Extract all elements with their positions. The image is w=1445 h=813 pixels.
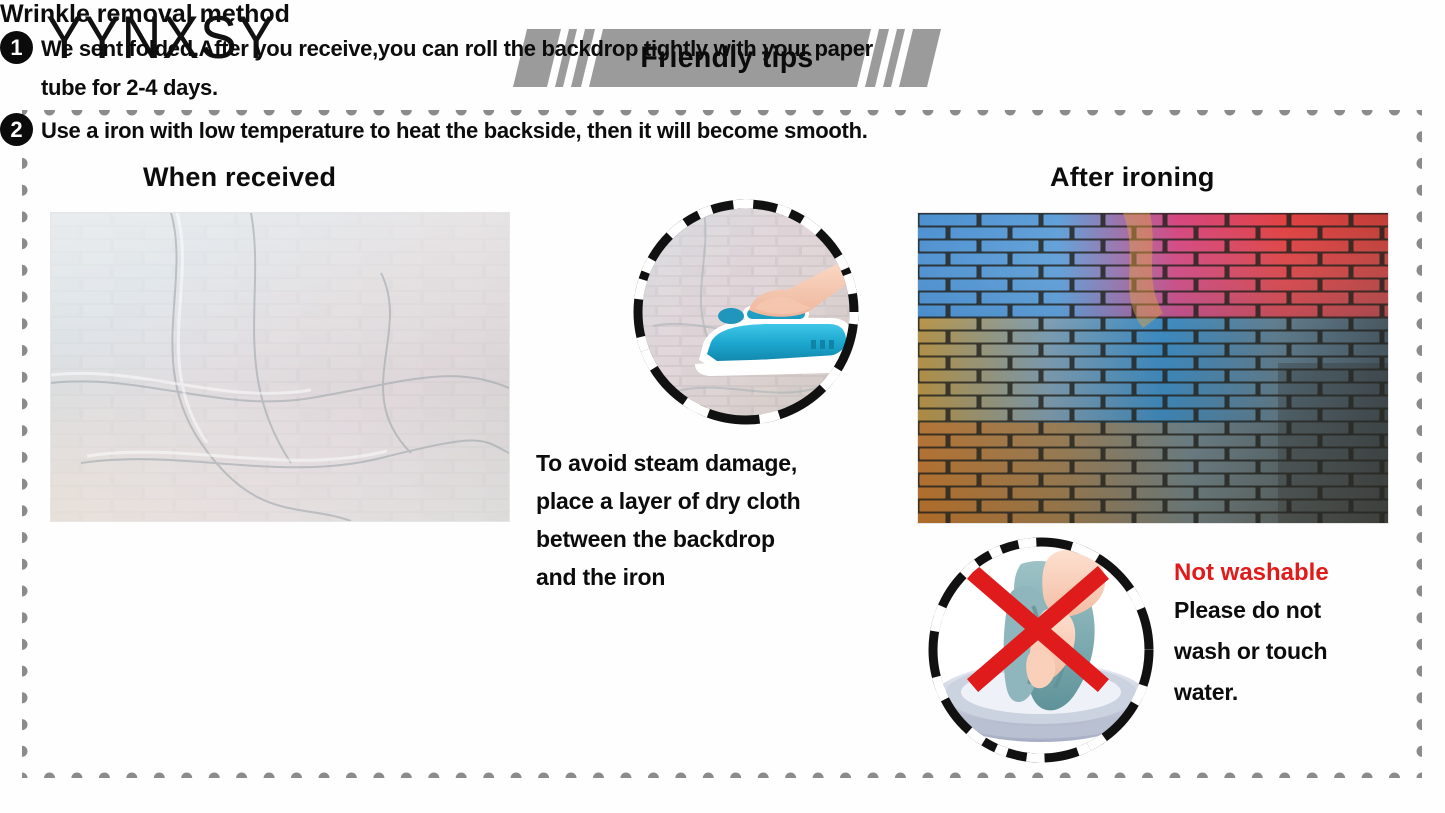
- tips-infographic: YYNXSY Friendly tips When received: [0, 0, 1445, 813]
- step-text: We sent folded.After you receive,you can…: [41, 29, 890, 107]
- wrinkle-steps: 1 We sent folded.After you receive,you c…: [0, 29, 890, 150]
- brick-wall-faded: [51, 213, 509, 521]
- wrinkle-step: 2 Use a iron with low temperature to hea…: [0, 111, 890, 150]
- no-wash-illustration: [925, 534, 1157, 766]
- step-number-badge: 2: [0, 113, 33, 146]
- step-text: Use a iron with low temperature to heat …: [41, 111, 890, 150]
- panel-title-after-ironing: After ironing: [1050, 162, 1215, 193]
- steam-line-2: between the backdrop: [536, 520, 926, 558]
- not-washable-line: wash or touch: [1174, 631, 1404, 672]
- wrinkle-step: 1 We sent folded.After you receive,you c…: [0, 29, 890, 107]
- iron-illustration: [633, 196, 859, 428]
- not-washable-line: water.: [1174, 672, 1404, 713]
- steam-line-3: and the iron: [536, 558, 926, 596]
- image-iron-demo: [633, 196, 859, 428]
- steam-line-1: place a layer of dry cloth: [536, 482, 926, 520]
- not-washable-line: Please do not: [1174, 590, 1404, 631]
- brick-wall-vivid: [918, 213, 1388, 523]
- not-washable-block: Not washable Please do not wash or touch…: [1174, 556, 1404, 713]
- image-no-washing: [925, 534, 1157, 766]
- not-washable-title: Not washable: [1174, 556, 1404, 590]
- image-after-ironing: [917, 212, 1389, 524]
- step-number-badge: 1: [0, 31, 33, 64]
- steam-warning-text: To avoid steam damage, place a layer of …: [536, 444, 926, 596]
- image-when-received: [50, 212, 510, 522]
- steam-line-0: To avoid steam damage,: [536, 444, 926, 482]
- panel-title-when-received: When received: [143, 162, 336, 193]
